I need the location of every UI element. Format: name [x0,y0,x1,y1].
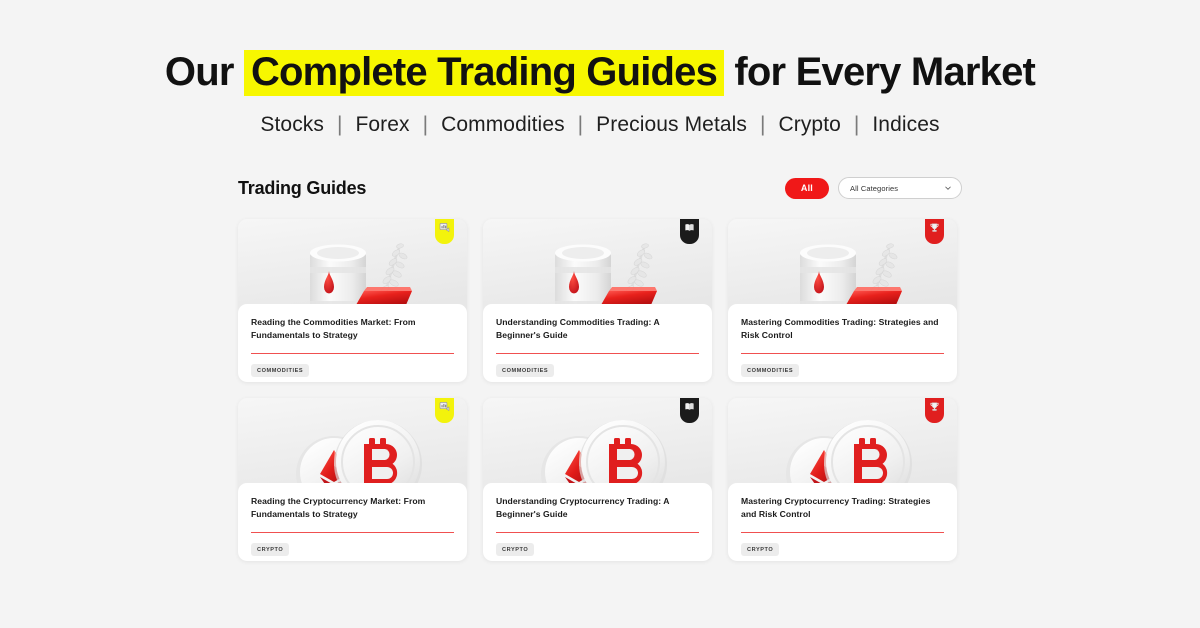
card-divider [741,353,944,354]
card-category-tag: CRYPTO [496,543,534,556]
card-divider [496,532,699,533]
chevron-down-icon [944,184,952,192]
card-badge [435,398,454,423]
section-header: Trading Guides All All Categories [238,173,962,203]
market-item-precious-metals: Precious Metals [596,113,747,136]
card-title: Understanding Commodities Trading: A Beg… [496,316,699,342]
card-title: Mastering Commodities Trading: Strategie… [741,316,944,342]
card-divider [251,353,454,354]
card-title: Mastering Cryptocurrency Trading: Strate… [741,495,944,521]
card-body: Reading the Cryptocurrency Market: From … [238,483,467,561]
guides-grid: Reading the Commodities Market: From Fun… [238,219,962,561]
card-category-tag: COMMODITIES [741,364,799,377]
chart-bars-icon [439,401,450,412]
market-separator: | [571,113,591,136]
market-separator: | [330,113,350,136]
page-root: Our Complete Trading Guides for Every Ma… [0,0,1200,628]
trophy-icon [929,222,940,233]
category-dropdown[interactable]: All Categories [838,177,962,199]
card-badge [435,219,454,244]
card-badge [925,398,944,423]
filter-controls: All All Categories [785,177,962,199]
guide-card[interactable]: Reading the Cryptocurrency Market: From … [238,398,467,561]
filter-all-button[interactable]: All [785,178,829,199]
guide-card[interactable]: Understanding Commodities Trading: A Beg… [483,219,712,382]
card-title: Reading the Commodities Market: From Fun… [251,316,454,342]
card-title: Understanding Cryptocurrency Trading: A … [496,495,699,521]
market-item-commodities: Commodities [441,113,565,136]
market-separator: | [416,113,436,136]
card-category-tag: COMMODITIES [251,364,309,377]
market-item-stocks: Stocks [260,113,324,136]
market-separator: | [753,113,773,136]
card-title: Reading the Cryptocurrency Market: From … [251,495,454,521]
card-divider [251,532,454,533]
page-title: Our Complete Trading Guides for Every Ma… [0,50,1200,96]
hero-section: Our Complete Trading Guides for Every Ma… [0,0,1200,137]
card-badge [925,219,944,244]
card-category-tag: CRYPTO [251,543,289,556]
market-item-indices: Indices [872,113,939,136]
card-body: Understanding Commodities Trading: A Beg… [483,304,712,382]
card-divider [496,353,699,354]
market-list: Stocks | Forex | Commodities | Precious … [0,113,1200,137]
guide-card[interactable]: Mastering Cryptocurrency Trading: Strate… [728,398,957,561]
category-dropdown-value: All Categories [850,184,944,193]
open-book-icon [684,401,695,412]
card-body: Mastering Commodities Trading: Strategie… [728,304,957,382]
guide-card[interactable]: Mastering Commodities Trading: Strategie… [728,219,957,382]
open-book-icon [684,222,695,233]
card-body: Mastering Cryptocurrency Trading: Strate… [728,483,957,561]
card-badge [680,219,699,244]
guide-card[interactable]: Reading the Commodities Market: From Fun… [238,219,467,382]
card-category-tag: COMMODITIES [496,364,554,377]
card-divider [741,532,944,533]
card-badge [680,398,699,423]
guide-card[interactable]: Understanding Cryptocurrency Trading: A … [483,398,712,561]
title-prefix: Our [165,50,244,94]
trophy-icon [929,401,940,412]
card-body: Understanding Cryptocurrency Trading: A … [483,483,712,561]
title-suffix: for Every Market [724,50,1035,94]
card-body: Reading the Commodities Market: From Fun… [238,304,467,382]
title-highlight: Complete Trading Guides [244,50,724,96]
market-item-crypto: Crypto [778,113,840,136]
section-title: Trading Guides [238,178,366,199]
market-item-forex: Forex [355,113,409,136]
chart-bars-icon [439,222,450,233]
market-separator: | [847,113,867,136]
card-category-tag: CRYPTO [741,543,779,556]
